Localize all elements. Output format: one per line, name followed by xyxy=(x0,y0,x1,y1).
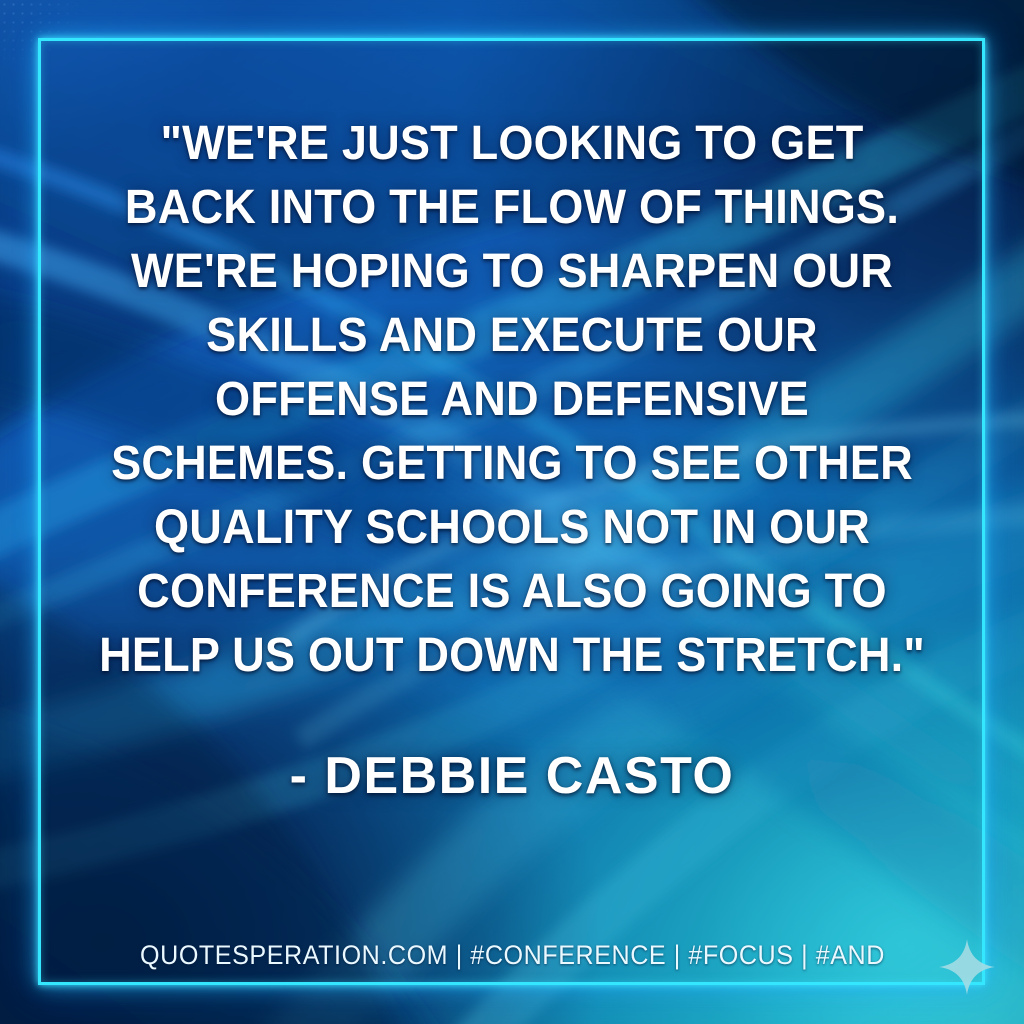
footer-bar: QUOTESPERATION.COM | #CONFERENCE | #FOCU… xyxy=(0,940,1024,971)
quote-content: "WE'RE JUST LOOKING TO GET BACK INTO THE… xyxy=(70,112,954,806)
quote-text: "WE'RE JUST LOOKING TO GET BACK INTO THE… xyxy=(97,112,928,688)
quote-attribution: - DEBBIE CASTO xyxy=(70,746,954,806)
footer-credit-text[interactable]: QUOTESPERATION.COM | #CONFERENCE | #FOCU… xyxy=(140,940,885,971)
quote-card: "WE'RE JUST LOOKING TO GET BACK INTO THE… xyxy=(0,0,1024,1024)
background-dot-texture xyxy=(0,0,140,120)
